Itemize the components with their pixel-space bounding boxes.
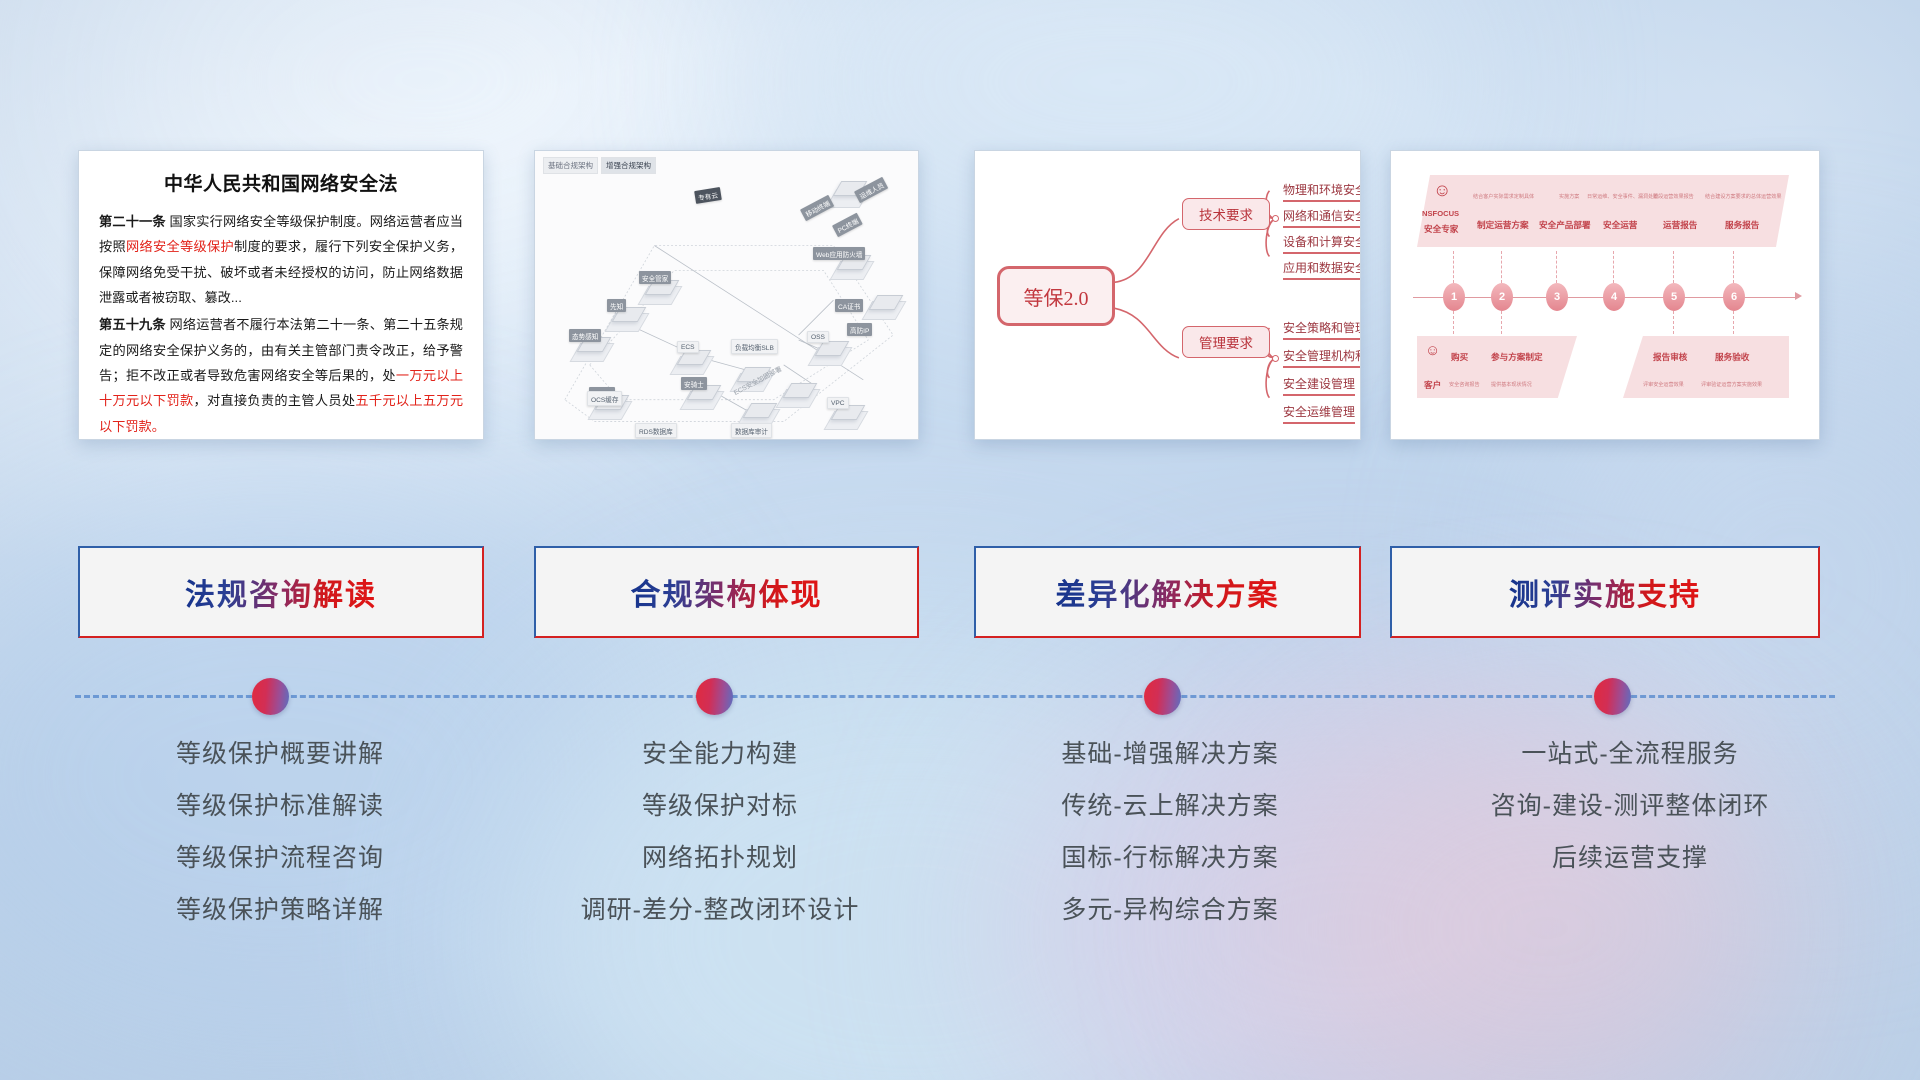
architecture-diagram: 基础合规架构 增强合规架构: [535, 151, 918, 439]
law-title: 中华人民共和国网络安全法: [99, 169, 463, 196]
law-article-21: 第二十一条 国家实行网络安全等级保护制度。网络运营者应当按照网络安全等级保护制度…: [99, 209, 463, 310]
list-item: 咨询-建设-测评整体闭环: [1400, 794, 1860, 819]
process-band-expert: [1417, 175, 1789, 247]
process-tick: [1501, 251, 1502, 283]
mindmap: 等保2.0 技术要求 物理和环境安全 网络和通信安全 设备和计算安全 应用和数据…: [975, 151, 1360, 439]
list-item: 后续运营支撑: [1400, 846, 1860, 871]
arch-node-label: VPC: [827, 397, 849, 409]
arch-node-label: 数据库审计: [731, 423, 772, 438]
detail-column-differentiated-solution: 基础-增强解决方案 传统-云上解决方案 国标-行标解决方案 多元-异构综合方案: [950, 742, 1390, 950]
process-step-sub: 日常运维、安全事件、漏洞处置: [1587, 193, 1658, 200]
law-article-59-text-2: ，对直接负责的主管人员处: [193, 393, 355, 408]
process-tick: [1556, 251, 1557, 283]
arch-node-label: 安全管家: [639, 271, 671, 284]
arch-node-label: 先知: [607, 299, 626, 312]
process-step-main: 报告审核: [1653, 351, 1687, 363]
arch-node-label: RDS数据库: [635, 423, 677, 438]
process-step-sub: 结合建设方案要求的总体运营效果: [1705, 193, 1781, 200]
heading-box-assessment-support[interactable]: 测评实施支持: [1390, 546, 1820, 638]
arch-node-label: ECS: [677, 341, 699, 353]
heading-box-compliance-architecture[interactable]: 合规架构体现: [534, 546, 919, 638]
process-step-sub: 实施方案: [1559, 193, 1579, 200]
process-step-main: 购买: [1451, 351, 1468, 363]
heading-box-differentiated-solution[interactable]: 差异化解决方案: [974, 546, 1361, 638]
arch-node-label: 高防IP: [847, 323, 872, 336]
list-item: 等级保护流程咨询: [60, 846, 500, 871]
mindmap-branch-technical: 技术要求: [1182, 198, 1270, 230]
card-mindmap-dengbao[interactable]: 等保2.0 技术要求 物理和环境安全 网络和通信安全 设备和计算安全 应用和数据…: [974, 150, 1361, 440]
list-item: 等级保护标准解读: [60, 794, 500, 819]
mindmap-leaf: 设备和计算安全: [1283, 233, 1361, 254]
card-nsfocus-process[interactable]: ☺ NSFOCUS 安全专家 结合客户实际需求定制具体 制定运营方案 实施方案 …: [1390, 150, 1820, 440]
process-step-main: 安全产品部署: [1539, 219, 1591, 231]
timeline-dot[interactable]: [696, 678, 733, 715]
heading-label: 法规咨询解读: [185, 570, 377, 614]
process-step-main: 安全运营: [1603, 219, 1637, 231]
process-step-sub: 提供基本现状情况: [1491, 381, 1532, 388]
timeline: [0, 660, 1920, 740]
mindmap-leaf: 应用和数据安全: [1283, 259, 1361, 280]
detail-column-regulation-consulting: 等级保护概要讲解 等级保护标准解读 等级保护流程咨询 等级保护策略详解: [60, 742, 500, 950]
process-tick: [1453, 311, 1454, 339]
arch-node-label: 态势感知: [569, 329, 601, 342]
process-step-sub: 评审验证运营方案实施效果: [1701, 381, 1762, 388]
mindmap-leaf: 安全建设管理: [1283, 375, 1355, 396]
process-axis-arrow-icon: [1795, 292, 1802, 300]
list-item: 网络拓扑规划: [500, 846, 940, 871]
list-item: 国标-行标解决方案: [950, 846, 1390, 871]
law-document: 中华人民共和国网络安全法 第二十一条 国家实行网络安全等级保护制度。网络运营者应…: [79, 151, 483, 440]
process-step-main: 服务验收: [1715, 351, 1749, 363]
mindmap-root: 等保2.0: [997, 266, 1115, 326]
list-item: 等级保护概要讲解: [60, 742, 500, 767]
list-item: 传统-云上解决方案: [950, 794, 1390, 819]
detail-column-compliance-architecture: 安全能力构建 等级保护对标 网络拓扑规划 调研-差分-整改闭环设计: [500, 742, 940, 950]
mindmap-leaf: 物理和环境安全: [1283, 181, 1361, 202]
process-tick: [1613, 251, 1614, 283]
customer-label: 客户: [1424, 379, 1441, 391]
list-item: 调研-差分-整改闭环设计: [500, 898, 940, 923]
mindmap-leaf: 安全运维管理: [1283, 403, 1355, 424]
process-step-main: 参与方案制定: [1491, 351, 1543, 363]
arch-node-label: CA证书: [835, 299, 863, 312]
arch-node-label: Web应用防火墙: [813, 247, 865, 260]
process-step-sub: 阶段运营效果报告: [1653, 193, 1694, 200]
list-item: 安全能力构建: [500, 742, 940, 767]
process-node: 1: [1443, 283, 1465, 311]
heading-row: 法规咨询解读 合规架构体现 差异化解决方案 测评实施支持: [0, 546, 1920, 642]
card-cybersecurity-law[interactable]: 中华人民共和国网络安全法 第二十一条 国家实行网络安全等级保护制度。网络运营者应…: [78, 150, 484, 440]
mindmap-leaf: 安全策略和管理制度: [1283, 319, 1361, 340]
card-compliance-architecture[interactable]: 基础合规架构 增强合规架构: [534, 150, 919, 440]
mindmap-leaf: 网络和通信安全: [1283, 207, 1361, 228]
expert-brand: NSFOCUS: [1422, 209, 1459, 218]
preview-card-row: 中华人民共和国网络安全法 第二十一条 国家实行网络安全等级保护制度。网络运营者应…: [0, 150, 1920, 450]
heading-label: 测评实施支持: [1509, 570, 1701, 614]
heading-box-regulation-consulting[interactable]: 法规咨询解读: [78, 546, 484, 638]
process-node: 6: [1723, 283, 1745, 311]
detail-list-row: 等级保护概要讲解 等级保护标准解读 等级保护流程咨询 等级保护策略详解 安全能力…: [0, 742, 1920, 972]
process-tick: [1733, 251, 1734, 283]
process-step-main: 运营报告: [1663, 219, 1697, 231]
process-step-main: 服务报告: [1725, 219, 1759, 231]
process-step-main: 制定运营方案: [1477, 219, 1529, 231]
expert-person-icon: ☺: [1433, 181, 1451, 199]
process-node: 3: [1546, 283, 1568, 311]
process-step-sub: 安全咨询报告: [1449, 381, 1480, 388]
law-article-21-label: 第二十一条: [99, 214, 166, 229]
mindmap-branch-management: 管理要求: [1182, 326, 1270, 358]
mindmap-leaf: 安全管理机构和人员: [1283, 347, 1361, 368]
heading-label: 合规架构体现: [631, 570, 823, 614]
process-step-sub: 评审安全运营效果: [1643, 381, 1684, 388]
law-article-59: 第五十九条 网络运营者不履行本法第二十一条、第二十五条规定的网络安全保护义务的，…: [99, 312, 463, 439]
process-step-sub: 结合客户实际需求定制具体: [1473, 193, 1534, 200]
process-tick: [1673, 251, 1674, 283]
process-tick: [1501, 311, 1502, 339]
process-tick: [1733, 311, 1734, 339]
detail-column-assessment-support: 一站式-全流程服务 咨询-建设-测评整体闭环 后续运营支撑: [1400, 742, 1860, 898]
process-node: 5: [1663, 283, 1685, 311]
process-band-customer-right: [1623, 336, 1789, 398]
heading-label: 差异化解决方案: [1056, 570, 1280, 614]
arch-node-label: OSS: [807, 331, 829, 343]
timeline-dot[interactable]: [1594, 678, 1631, 715]
process-diagram: ☺ NSFOCUS 安全专家 结合客户实际需求定制具体 制定运营方案 实施方案 …: [1391, 151, 1819, 439]
arch-node-label: 负载均衡SLB: [731, 339, 778, 354]
process-tick: [1673, 311, 1674, 339]
list-item: 一站式-全流程服务: [1400, 742, 1860, 767]
customer-person-icon: ☺: [1425, 343, 1440, 358]
list-item: 等级保护策略详解: [60, 898, 500, 923]
mindmap-node-dot: [1272, 355, 1279, 362]
expert-label: 安全专家: [1424, 223, 1458, 235]
timeline-dot[interactable]: [1144, 678, 1181, 715]
process-node: 2: [1491, 283, 1513, 311]
mindmap-node-dot: [1272, 215, 1279, 222]
process-node: 4: [1603, 283, 1625, 311]
arch-node-label: OCS缓存: [587, 391, 622, 406]
list-item: 多元-异构综合方案: [950, 898, 1390, 923]
list-item: 基础-增强解决方案: [950, 742, 1390, 767]
timeline-dashed-line: [75, 695, 1835, 698]
timeline-dot[interactable]: [252, 678, 289, 715]
law-article-21-highlight: 网络安全等级保护: [126, 239, 234, 254]
law-article-59-label: 第五十九条: [99, 317, 166, 332]
process-tick: [1453, 251, 1454, 283]
arch-node-label: 安骑士: [681, 377, 707, 390]
list-item: 等级保护对标: [500, 794, 940, 819]
